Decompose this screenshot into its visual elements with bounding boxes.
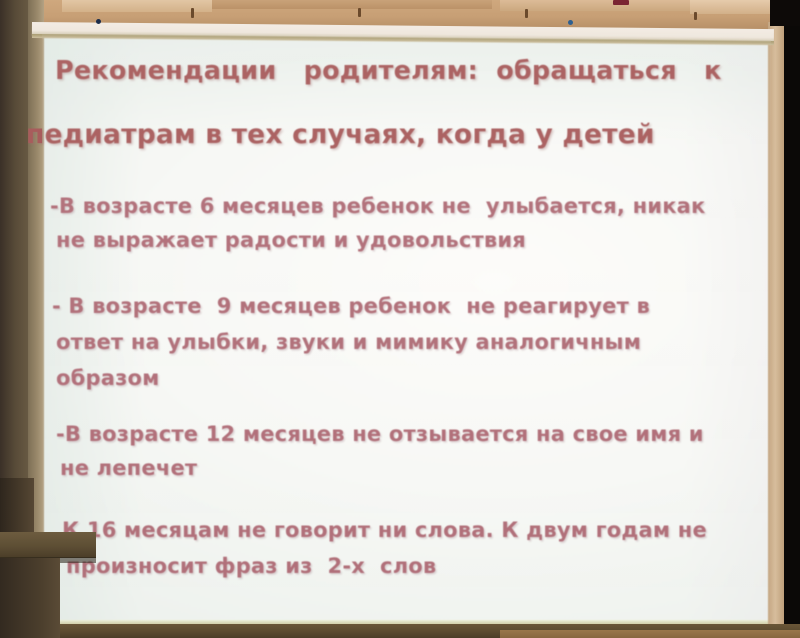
- slide-title-line-2: педиатрам в тех случаях, когда у детей: [26, 119, 655, 150]
- pin-icon: [568, 20, 573, 25]
- pin-icon: [358, 8, 361, 17]
- dark-corner-background: [770, 0, 800, 26]
- projector-screen-photo: Рекомендации родителям: обращаться к пед…: [0, 0, 800, 638]
- bullet-2-line-2: ответ на улыбки, звуки и мимику аналогич…: [56, 330, 641, 354]
- pinned-paper: [690, 0, 782, 14]
- pinned-paper: [212, 0, 492, 9]
- bullet-2-line-3: образом: [56, 366, 160, 390]
- pin-icon: [694, 12, 697, 20]
- pin-icon: [191, 8, 194, 18]
- pinned-paper: [62, 0, 212, 12]
- bullet-1-line-1: -В возрасте 6 месяцев ребенок не улыбает…: [50, 194, 705, 218]
- pinned-paper: [500, 0, 690, 11]
- bullet-3-line-1: -В возрасте 12 месяцев не отзывается на …: [56, 422, 704, 446]
- bullet-4-line-1: К 16 месяцам не говорит ни слова. К двум…: [62, 518, 707, 542]
- slide-title-line-1: Рекомендации родителям: обращаться к: [55, 56, 722, 86]
- bottom-ledge-right: [500, 630, 800, 638]
- bullet-2-line-1: - В возрасте 9 месяцев ребенок не реагир…: [52, 294, 650, 318]
- bullet-4-line-2: произносит фраз из 2-х слов: [66, 554, 436, 578]
- pin-icon: [613, 0, 629, 5]
- bullet-1-line-2: не выражает радости и удовольствия: [56, 228, 526, 252]
- screen-mount-arm: [0, 532, 96, 558]
- pin-icon: [96, 19, 101, 24]
- bullet-3-line-2: не лепечет: [60, 456, 197, 480]
- screen-mount-lower: [0, 558, 60, 638]
- dark-right-background: [784, 0, 800, 638]
- pin-icon: [525, 9, 528, 18]
